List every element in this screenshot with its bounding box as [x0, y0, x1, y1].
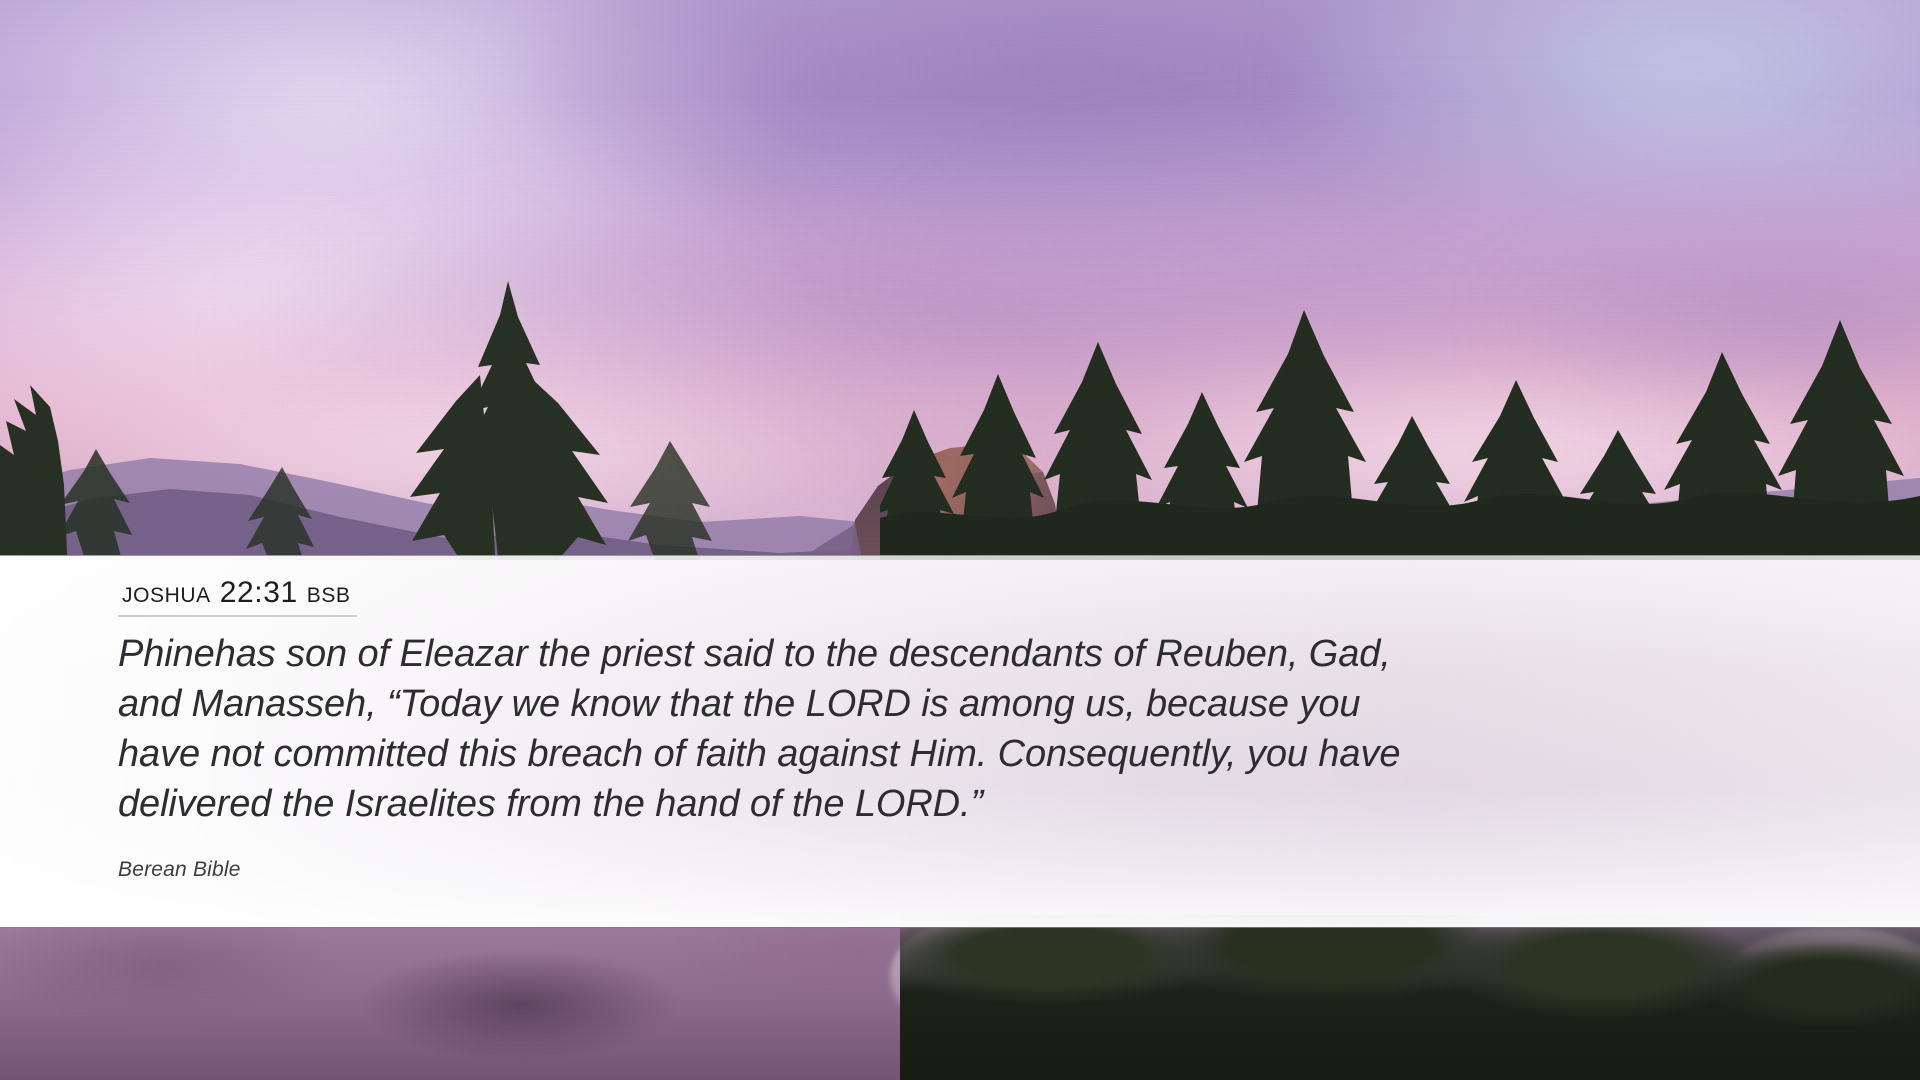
conifer-tree-line-right: [880, 270, 1920, 570]
wallpaper-canvas: Joshua 22:31 BSB Phinehas son of Eleazar…: [0, 0, 1920, 1080]
verse-content: Joshua 22:31 BSB Phinehas son of Eleazar…: [118, 576, 1818, 882]
verse-overlay-panel: Joshua 22:31 BSB Phinehas son of Eleazar…: [0, 555, 1920, 928]
verse-text: Phinehas son of Eleazar the priest said …: [118, 629, 1438, 830]
verse-reference: Joshua 22:31 BSB: [118, 576, 357, 617]
dark-shrub-mass: [900, 915, 1920, 1080]
verse-source-attribution: Berean Bible: [118, 858, 1818, 882]
